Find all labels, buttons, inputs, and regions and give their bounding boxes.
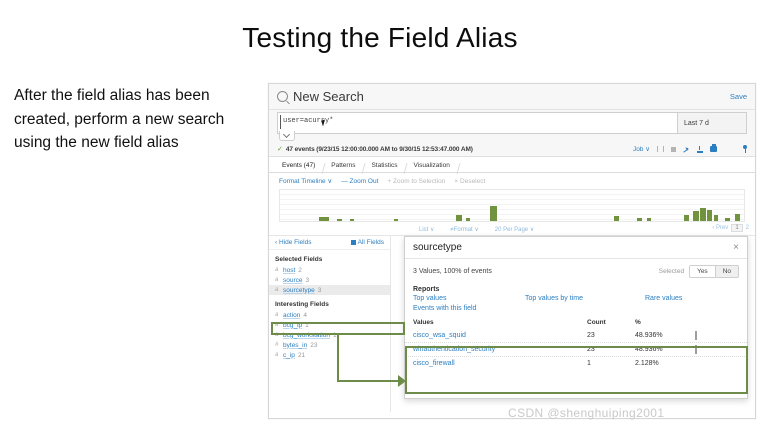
timeline-bar [337, 219, 343, 221]
popup-meta-row: 3 Values, 100% of events Selected Yes No [405, 259, 747, 280]
values-table-header: Values Count % [405, 312, 747, 329]
tab-statistics[interactable]: Statistics [364, 162, 406, 172]
toggle-yes[interactable]: Yes [690, 266, 715, 277]
all-fields-button[interactable]: All Fields [351, 239, 384, 246]
hide-fields-button[interactable]: ‹ Hide Fields [275, 239, 311, 246]
current-page[interactable]: 1 [731, 224, 742, 232]
tab-events[interactable]: Events (47) [275, 162, 324, 172]
list-view-dropdown[interactable]: List ∨ [419, 226, 434, 233]
field-name: action [283, 312, 300, 319]
table-row[interactable]: cisco_wsa_squid 23 48.936% [405, 329, 747, 343]
top-values-link[interactable]: Top values [413, 295, 446, 302]
annotation-connector-horizontal [337, 380, 400, 382]
field-type-icon: a [275, 277, 280, 283]
tab-visualization[interactable]: Visualization [406, 162, 458, 172]
page-title: Testing the Field Alias [0, 22, 760, 54]
timeline-bar [637, 218, 642, 221]
field-row-bytes-in[interactable]: # bytes_in 23 [269, 340, 390, 350]
search-bar-row: user=acurry* Last 7 d [269, 110, 755, 134]
timeline-bar [700, 208, 706, 221]
field-count: 3 [306, 277, 310, 284]
field-row-c-ip[interactable]: a c_ip 21 [269, 350, 390, 360]
field-count: 21 [298, 352, 305, 359]
field-row-host[interactable]: a host 2 [269, 265, 390, 275]
save-button[interactable]: Save [730, 92, 747, 101]
share-icon[interactable] [683, 146, 690, 153]
pin-icon[interactable] [743, 145, 747, 153]
field-name: sourcetype [283, 287, 315, 294]
results-controls: List ∨ ≠Format ∨ 20 Per Page ∨ ‹ Prev 1 … [269, 223, 755, 235]
reports-heading: Reports [405, 280, 747, 295]
toggle-no[interactable]: No [715, 266, 738, 277]
popup-header: sourcetype × [405, 237, 747, 259]
close-icon[interactable]: × [733, 242, 739, 253]
field-name: bytes_in [283, 342, 307, 349]
timeline-bar [319, 217, 328, 221]
next-page-button[interactable]: 2 [746, 225, 749, 231]
timeline-bar [456, 215, 462, 221]
timeline-bar [490, 206, 497, 221]
col-values: Values [413, 319, 587, 326]
timeline-bar [707, 210, 713, 221]
value-bar [695, 331, 697, 340]
zoom-out-button[interactable]: — Zoom Out [341, 178, 378, 185]
rare-values-link[interactable]: Rare values [645, 295, 682, 302]
field-row-sourcetype[interactable]: a sourcetype 3 [269, 285, 390, 295]
field-type-icon: a [275, 267, 280, 273]
field-name: source [283, 277, 303, 284]
timeline-bar [693, 211, 699, 221]
zoom-to-selection-button: + Zoom to Selection [387, 178, 445, 185]
text-cursor [280, 115, 281, 129]
timeline-bar [714, 215, 719, 221]
timeline-bar [735, 214, 741, 221]
check-icon: ✓ [277, 145, 283, 153]
timeline-bar [614, 216, 619, 221]
field-count: 23 [310, 342, 317, 349]
download-icon[interactable] [697, 146, 703, 153]
chevron-down-icon [279, 131, 295, 141]
field-count: 3 [318, 287, 322, 294]
selected-toggle[interactable]: Yes No [689, 265, 739, 278]
events-timeline-chart[interactable] [279, 189, 745, 222]
job-status-row: ✓ 47 events (9/23/15 12:00:00.000 AM to … [269, 142, 755, 157]
percent-cell: 48.936% [635, 332, 695, 339]
watermark: CSDN @shenghuiping2001 [508, 406, 664, 420]
pause-icon[interactable] [657, 146, 664, 152]
field-name: host [283, 267, 295, 274]
field-type-icon: a [275, 352, 280, 358]
pagination: ‹ Prev 1 2 [712, 224, 749, 232]
popup-title: sourcetype [413, 242, 733, 253]
bar-cell [695, 332, 739, 339]
prev-page-button[interactable]: ‹ Prev [712, 225, 728, 231]
interesting-fields-heading: Interesting Fields [269, 295, 390, 310]
tab-patterns[interactable]: Patterns [324, 162, 364, 172]
top-values-by-time-link[interactable]: Top values by time [525, 295, 583, 302]
field-type-icon: # [275, 342, 280, 348]
field-count: 2 [298, 267, 302, 274]
annotation-arrowhead [398, 375, 406, 387]
events-with-field-row: Events with this field [405, 302, 747, 312]
col-percent: % [635, 319, 695, 326]
job-controls: Job ∨ [633, 145, 747, 153]
popup-summary: 3 Values, 100% of events [413, 268, 659, 275]
job-dropdown[interactable]: Job ∨ [633, 145, 650, 153]
timeline-bar [725, 218, 730, 221]
timeline-bar [647, 218, 652, 221]
slide-body-text: After the field alias has been created, … [14, 84, 262, 155]
field-name: c_ip [283, 352, 295, 359]
selected-label: Selected [659, 268, 684, 275]
timeline-controls: Format Timeline ∨ — Zoom Out + Zoom to S… [269, 173, 755, 189]
timeline-bar [350, 219, 355, 221]
timeline-bar [394, 219, 399, 221]
count-cell: 23 [587, 332, 635, 339]
grid-icon [351, 240, 356, 245]
app-header: New Search Save [269, 84, 755, 110]
fields-sidebar-header: ‹ Hide Fields All Fields [269, 236, 390, 250]
result-tabs: Events (47) Patterns Statistics Visualiz… [269, 157, 755, 173]
app-title: New Search [293, 89, 730, 104]
field-count: 4 [303, 312, 307, 319]
field-row-action[interactable]: a action 4 [269, 310, 390, 320]
field-row-source[interactable]: a source 3 [269, 275, 390, 285]
timeline-bar [684, 215, 690, 221]
format-timeline-dropdown[interactable]: Format Timeline ∨ [279, 177, 332, 185]
stop-icon[interactable] [671, 147, 676, 152]
print-icon[interactable] [710, 146, 717, 152]
slide-root: Testing the Field Alias After the field … [0, 0, 760, 435]
col-count: Count [587, 319, 635, 326]
annotation-box-values-table [405, 346, 748, 394]
event-count-status: 47 events (9/23/15 12:00:00.000 AM to 9/… [286, 146, 633, 153]
field-type-icon: a [275, 287, 280, 293]
selected-fields-heading: Selected Fields [269, 250, 390, 265]
per-page-dropdown[interactable]: 20 Per Page ∨ [495, 226, 534, 233]
value-cell[interactable]: cisco_wsa_squid [413, 332, 587, 339]
search-input[interactable]: user=acurry* [277, 112, 677, 134]
report-links-row: Top values Top values by time Rare value… [405, 295, 747, 302]
search-expander[interactable] [269, 134, 755, 142]
format-dropdown[interactable]: ≠Format ∨ [450, 226, 478, 233]
annotation-connector-vertical [337, 334, 339, 382]
timeline-bar [466, 218, 471, 221]
timeline-chart-wrap [269, 189, 755, 223]
events-with-this-field-link[interactable]: Events with this field [413, 305, 476, 312]
deselect-button: × Deselect [454, 178, 485, 185]
search-icon [277, 91, 288, 102]
field-type-icon: a [275, 312, 280, 318]
time-range-picker[interactable]: Last 7 d [677, 112, 747, 134]
